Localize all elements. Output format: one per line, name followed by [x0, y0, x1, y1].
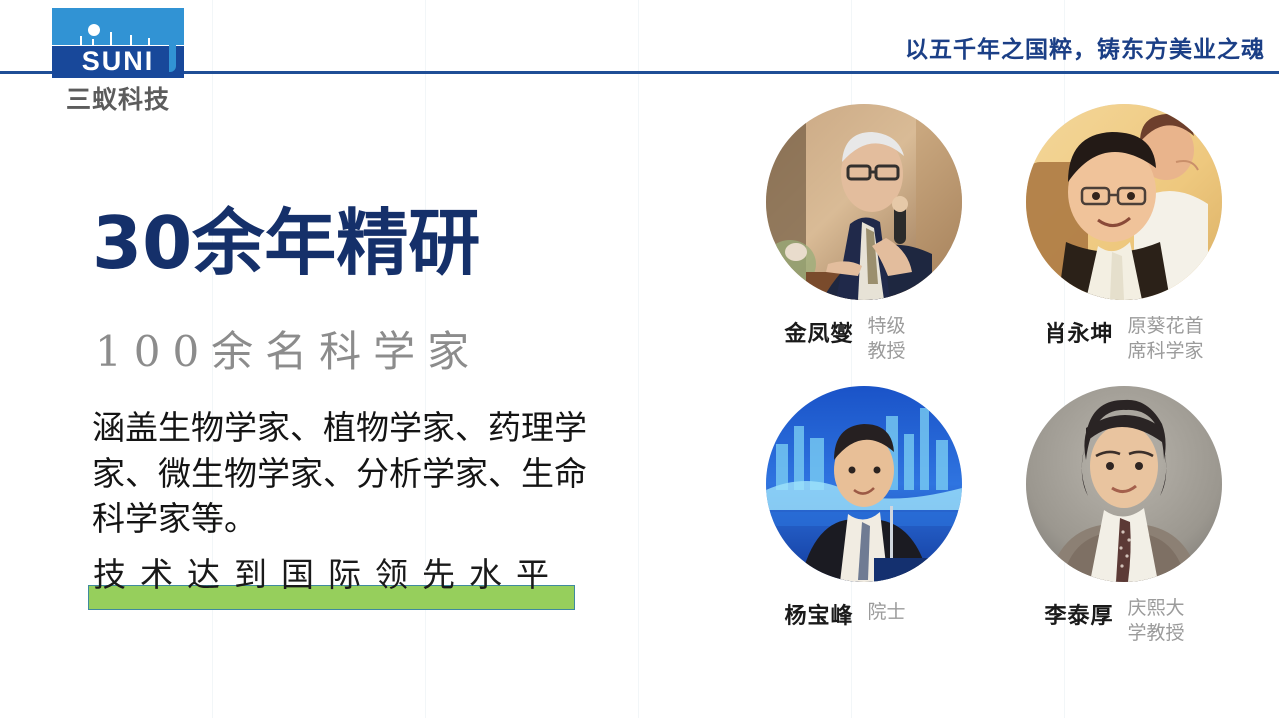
- expert-caption: 李泰厚 庆熙大 学教授: [990, 596, 1258, 646]
- expert-title-line: 学教授: [1128, 622, 1185, 644]
- page-headline: 30余年精研: [92, 206, 480, 282]
- highlight-callout: 技术达到国际领先水平: [88, 548, 588, 614]
- expert-title: 原葵花首 席科学家: [1128, 314, 1204, 364]
- expert-caption: 杨宝峰 院士: [730, 596, 998, 630]
- expert-portrait-photo: [766, 386, 962, 582]
- expert-name: 李泰厚: [1044, 596, 1113, 630]
- expert-portrait-photo: [1026, 386, 1222, 582]
- expert-grid: 金凤燮 特级 教授: [712, 104, 1272, 664]
- expert-portrait-photo: [1026, 104, 1222, 300]
- expert-card[interactable]: 肖永坤 原葵花首 席科学家: [990, 104, 1258, 382]
- logo-dot-icon: [88, 24, 100, 36]
- expert-card[interactable]: 杨宝峰 院士: [730, 386, 998, 664]
- logo-top-panel: [52, 8, 184, 46]
- header-slogan: 以五千年之国粹，铸东方美业之魂: [905, 30, 1265, 64]
- expert-title: 院士: [868, 596, 944, 625]
- expert-title-line: 特级: [868, 315, 906, 337]
- expert-title: 特级 教授: [868, 314, 944, 364]
- expert-portrait-photo: [766, 104, 962, 300]
- expert-title: 庆熙大 学教授: [1128, 596, 1204, 646]
- logo-spike-icon: [110, 32, 112, 46]
- expert-caption: 肖永坤 原葵花首 席科学家: [990, 314, 1258, 364]
- body-paragraph: 涵盖生物学家、植物学家、药理学家、微生物学家、分析学家、生命科学家等。: [92, 405, 592, 542]
- page-subheadline: 100余名科学家: [95, 318, 481, 379]
- highlight-text: 技术达到国际领先水平: [93, 548, 563, 596]
- expert-card[interactable]: 金凤燮 特级 教授: [730, 104, 998, 382]
- logo-mark: SUNI: [52, 8, 184, 78]
- expert-title-line: 原葵花首: [1128, 315, 1204, 337]
- expert-name: 金凤燮: [784, 314, 853, 348]
- expert-card[interactable]: 李泰厚 庆熙大 学教授: [990, 386, 1258, 664]
- grid-line: [638, 0, 639, 718]
- slide-canvas: SUNI 三蚁科技 以五千年之国粹，铸东方美业之魂 30余年精研 100余名科学…: [0, 0, 1279, 718]
- expert-title-line: 席科学家: [1128, 340, 1204, 362]
- expert-name: 肖永坤: [1044, 314, 1113, 348]
- expert-name: 杨宝峰: [784, 596, 853, 630]
- expert-caption: 金凤燮 特级 教授: [730, 314, 998, 364]
- logo-chinese-name: 三蚁科技: [52, 80, 184, 116]
- expert-title-line: 庆熙大: [1128, 597, 1185, 619]
- expert-title-line: 教授: [868, 340, 906, 362]
- suni-logo: SUNI 三蚁科技: [52, 8, 184, 116]
- header-divider-line: [0, 71, 1279, 74]
- logo-wordmark: SUNI: [52, 46, 184, 78]
- logo-tail-bar: [169, 10, 176, 72]
- expert-title-line: 院士: [868, 601, 906, 623]
